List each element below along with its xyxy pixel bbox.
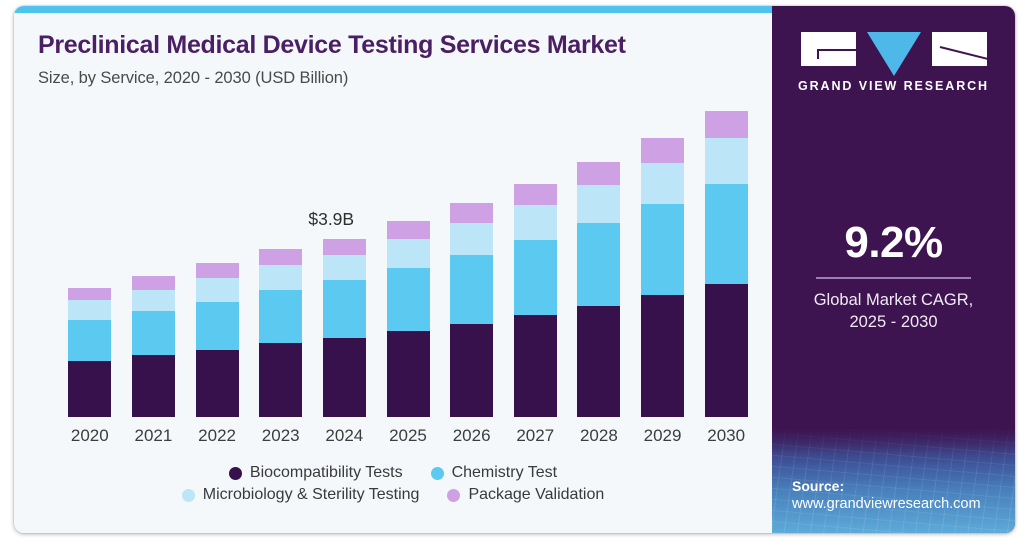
legend-item-biocompatibility-tests[interactable]: Biocompatibility Tests: [229, 464, 403, 482]
bar-segment-2020-microbiology-sterility-testing: [68, 300, 111, 320]
brand-wordmark: GRAND VIEW RESEARCH: [798, 79, 989, 93]
bar-segment-2024-chemistry-test: [323, 280, 366, 338]
bar-segment-2026-biocompatibility-tests: [450, 324, 493, 417]
legend-row-2: Microbiology & Sterility TestingPackage …: [168, 486, 618, 504]
bar-segment-2026-chemistry-test: [450, 255, 493, 324]
bar-2025: [387, 221, 430, 417]
cagr-caption-line1: Global Market CAGR,: [772, 289, 1015, 311]
x-tick-2020: 2020: [58, 426, 122, 446]
x-tick-2022: 2022: [185, 426, 249, 446]
legend-row-1: Biocompatibility TestsChemistry Test: [215, 464, 571, 482]
cagr-caption: Global Market CAGR, 2025 - 2030: [772, 289, 1015, 334]
legend-swatch-icon: [431, 467, 444, 480]
bar-segment-2028-package-validation: [577, 162, 620, 185]
bar-segment-2029-package-validation: [641, 138, 684, 163]
bar-segment-2020-chemistry-test: [68, 320, 111, 361]
stat-divider: [816, 277, 971, 279]
bar-segment-2023-biocompatibility-tests: [259, 343, 302, 417]
legend-item-chemistry-test[interactable]: Chemistry Test: [431, 464, 558, 482]
logo-r-icon: [932, 32, 987, 66]
bar-2024: [323, 239, 366, 417]
plot-area: 2020202120222023202420252026202720282029…: [14, 6, 772, 533]
legend-swatch-icon: [182, 489, 195, 502]
x-tick-2025: 2025: [376, 426, 440, 446]
legend-label: Biocompatibility Tests: [250, 464, 403, 482]
bar-segment-2024-biocompatibility-tests: [323, 338, 366, 417]
bar-segment-2025-microbiology-sterility-testing: [387, 239, 430, 268]
source-url[interactable]: www.grandviewresearch.com: [792, 495, 981, 515]
bar-2027: [514, 184, 557, 417]
bar-segment-2022-chemistry-test: [196, 302, 239, 350]
bar-segment-2025-chemistry-test: [387, 268, 430, 331]
bar-segment-2024-microbiology-sterility-testing: [323, 255, 366, 281]
brand-logo: GRAND VIEW RESEARCH: [772, 32, 1015, 93]
bar-2029: [641, 138, 684, 417]
bar-segment-2025-package-validation: [387, 221, 430, 239]
bar-2020: [68, 288, 111, 417]
bar-segment-2023-chemistry-test: [259, 290, 302, 343]
cagr-caption-line2: 2025 - 2030: [772, 311, 1015, 333]
bar-segment-2026-package-validation: [450, 203, 493, 222]
brand-side-panel: GRAND VIEW RESEARCH 9.2% Global Market C…: [772, 6, 1015, 533]
chart-panel: Preclinical Medical Device Testing Servi…: [14, 6, 772, 533]
logo-g-icon: [801, 32, 856, 66]
x-tick-2030: 2030: [694, 426, 758, 446]
bar-segment-2020-package-validation: [68, 288, 111, 301]
bar-segment-2025-biocompatibility-tests: [387, 331, 430, 417]
bar-segment-2030-package-validation: [705, 111, 748, 138]
bar-segment-2030-chemistry-test: [705, 184, 748, 284]
bar-segment-2028-biocompatibility-tests: [577, 306, 620, 417]
bar-2022: [196, 263, 239, 417]
legend-item-microbiology-sterility-testing[interactable]: Microbiology & Sterility Testing: [182, 486, 420, 504]
x-tick-2027: 2027: [503, 426, 567, 446]
bar-segment-2021-biocompatibility-tests: [132, 355, 175, 417]
bar-segment-2021-package-validation: [132, 276, 175, 290]
logo-v-triangle-icon: [867, 32, 921, 76]
source-label: Source:: [792, 477, 981, 496]
bar-segment-2022-microbiology-sterility-testing: [196, 278, 239, 302]
cagr-value: 9.2%: [772, 221, 1015, 265]
bar-segment-2024-package-validation: [323, 239, 366, 255]
bar-segment-2028-chemistry-test: [577, 223, 620, 306]
x-tick-2023: 2023: [249, 426, 313, 446]
bar-segment-2027-biocompatibility-tests: [514, 315, 557, 417]
source-block: Source: www.grandviewresearch.com: [772, 429, 1015, 533]
bar-segment-2029-microbiology-sterility-testing: [641, 163, 684, 205]
source-inner: Source: www.grandviewresearch.com: [792, 477, 981, 515]
x-tick-2028: 2028: [567, 426, 631, 446]
legend-swatch-icon: [229, 467, 242, 480]
bar-segment-2021-chemistry-test: [132, 311, 175, 355]
x-tick-2024: 2024: [313, 426, 377, 446]
legend-item-package-validation[interactable]: Package Validation: [447, 486, 604, 504]
legend-label: Microbiology & Sterility Testing: [203, 486, 420, 504]
bar-2030: [705, 111, 748, 417]
bar-2028: [577, 162, 620, 417]
x-axis: 2020202120222023202420252026202720282029…: [58, 426, 758, 452]
bars-container: [58, 106, 758, 417]
x-tick-2026: 2026: [440, 426, 504, 446]
value-annotation-2024: $3.9B: [308, 209, 354, 230]
bar-segment-2023-package-validation: [259, 249, 302, 265]
infographic-card: Preclinical Medical Device Testing Servi…: [14, 6, 1015, 533]
bar-2026: [450, 203, 493, 417]
bar-segment-2027-microbiology-sterility-testing: [514, 205, 557, 240]
bar-segment-2023-microbiology-sterility-testing: [259, 265, 302, 291]
bar-segment-2027-chemistry-test: [514, 240, 557, 315]
bar-segment-2026-microbiology-sterility-testing: [450, 223, 493, 255]
bar-segment-2027-package-validation: [514, 184, 557, 205]
bar-segment-2030-biocompatibility-tests: [705, 284, 748, 417]
logo-marks: [801, 32, 987, 66]
bar-segment-2020-biocompatibility-tests: [68, 361, 111, 417]
legend-label: Package Validation: [468, 486, 604, 504]
x-tick-2029: 2029: [631, 426, 695, 446]
bar-2021: [132, 276, 175, 417]
bar-segment-2022-package-validation: [196, 263, 239, 278]
bar-2023: [259, 249, 302, 417]
bar-segment-2028-microbiology-sterility-testing: [577, 185, 620, 223]
bar-segment-2021-microbiology-sterility-testing: [132, 290, 175, 311]
bar-segment-2022-biocompatibility-tests: [196, 350, 239, 417]
bar-segment-2030-microbiology-sterility-testing: [705, 138, 748, 184]
legend-label: Chemistry Test: [452, 464, 558, 482]
chart-legend: Biocompatibility TestsChemistry TestMicr…: [14, 464, 772, 504]
bar-segment-2029-biocompatibility-tests: [641, 295, 684, 417]
cagr-stat: 9.2% Global Market CAGR, 2025 - 2030: [772, 221, 1015, 334]
x-tick-2021: 2021: [122, 426, 186, 446]
legend-swatch-icon: [447, 489, 460, 502]
bar-segment-2029-chemistry-test: [641, 204, 684, 295]
